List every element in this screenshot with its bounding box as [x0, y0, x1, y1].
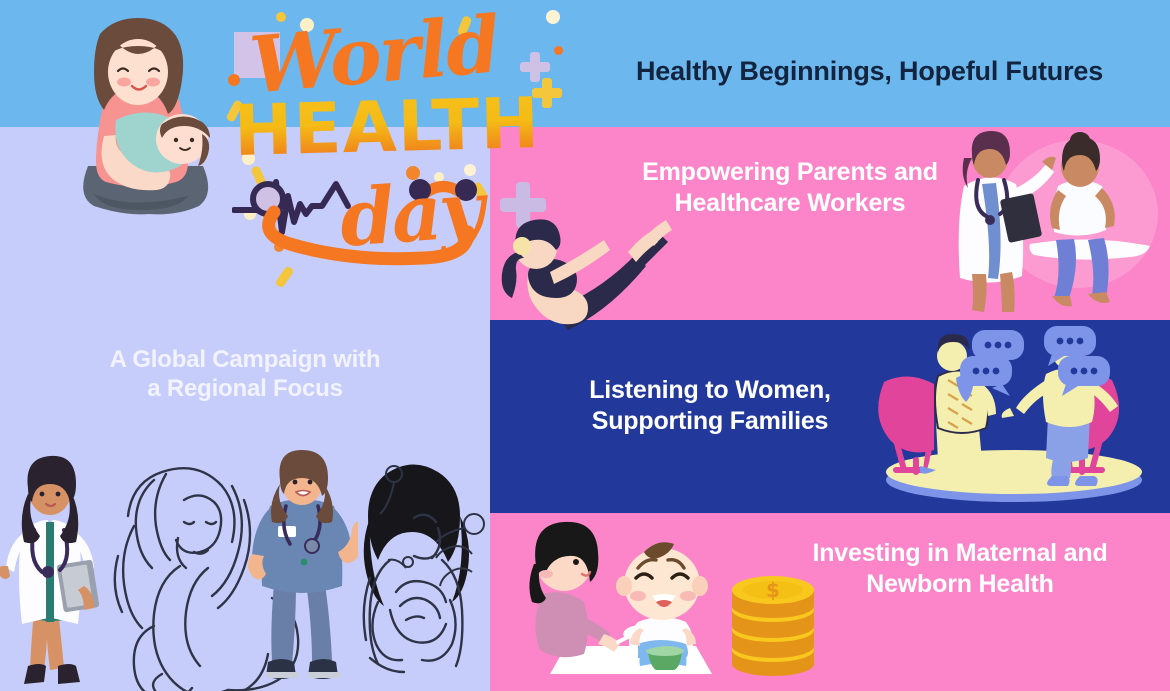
tagline-global-campaign: A Global Campaign with a Regional Focus: [55, 345, 435, 404]
yoga-boat-pose-woman-illustration: [496, 212, 676, 330]
tagline-investing-line-2: Newborn Health: [760, 569, 1160, 600]
mother-holding-baby-illustration: [52, 16, 232, 221]
confetti-dot: [546, 10, 560, 24]
tagline-empowering-line-1: Empowering Parents and: [600, 157, 980, 188]
doctor-with-clipboard-illustration: [0, 438, 110, 691]
two-people-talking-chairs-illustration: [862, 322, 1162, 512]
tagline-listening-to-women: Listening to Women, Supporting Families: [520, 375, 900, 436]
tagline-healthy-beginnings: Healthy Beginnings, Hopeful Futures: [636, 55, 1116, 88]
confetti-dot: [228, 74, 240, 86]
nurse-in-scrubs-illustration: [248, 450, 358, 691]
tagline-global-line-1: A Global Campaign with: [55, 345, 435, 374]
tagline-empowering-parents: Empowering Parents and Healthcare Worker…: [600, 157, 980, 218]
logo-word-health: HEALTH: [233, 82, 541, 172]
world-health-day-poster: World HEALTH HEALTH day: [0, 0, 1170, 691]
tagline-listening-line-1: Listening to Women,: [520, 375, 900, 406]
logo-word-day: day: [337, 164, 484, 265]
tagline-global-line-2: a Regional Focus: [55, 374, 435, 403]
tagline-investing-line-1: Investing in Maternal and: [760, 538, 1160, 569]
mother-feeding-baby-illustration: [512, 518, 742, 688]
tagline-investing-in-maternal: Investing in Maternal and Newborn Health: [760, 538, 1160, 599]
confetti-dot: [554, 46, 563, 55]
line-art-mother-with-baby-illustration: [346, 460, 486, 691]
tagline-listening-line-2: Supporting Families: [520, 406, 900, 437]
tagline-empowering-line-2: Healthcare Workers: [600, 188, 980, 219]
